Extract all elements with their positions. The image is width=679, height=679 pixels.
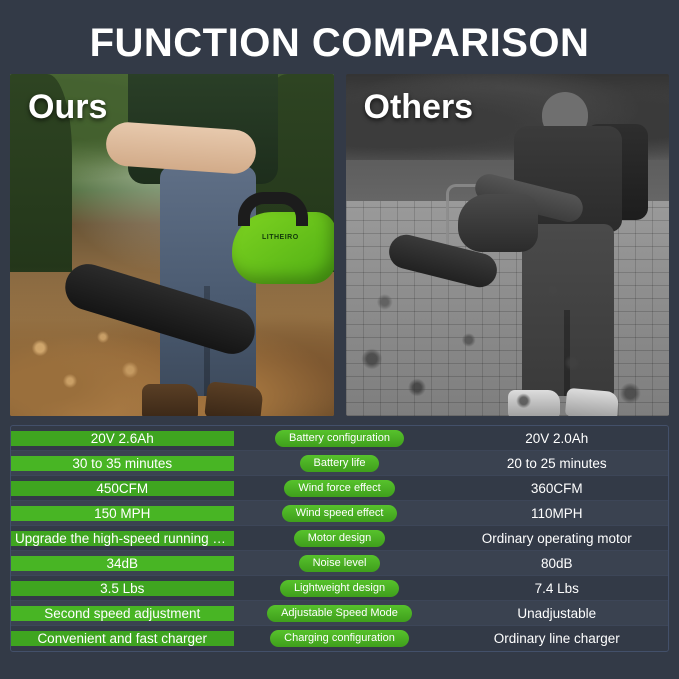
table-row: Convenient and fast charger Charging con… xyxy=(11,626,668,651)
cell-others: 20V 2.0Ah xyxy=(446,431,669,446)
cell-feature: Wind force effect xyxy=(234,480,446,497)
panel-label-ours: Ours xyxy=(28,88,107,127)
page-title: FUNCTION COMPARISON xyxy=(0,0,679,74)
cell-others: 110MPH xyxy=(446,506,669,521)
comparison-table: 20V 2.6Ah Battery configuration 20V 2.0A… xyxy=(10,425,669,652)
cell-ours: 450CFM xyxy=(11,481,234,496)
feature-pill: Charging configuration xyxy=(270,630,409,647)
cell-feature: Battery configuration xyxy=(234,430,446,447)
image-panels: LITHEIRO Ours xyxy=(0,74,679,416)
boot-right xyxy=(204,381,263,416)
cell-others: Ordinary operating motor xyxy=(446,531,669,546)
cell-ours: 34dB xyxy=(11,556,234,571)
feature-pill: Battery configuration xyxy=(275,430,404,447)
cell-others: 80dB xyxy=(446,556,669,571)
cell-feature: Wind speed effect xyxy=(234,505,446,522)
cell-others: 360CFM xyxy=(446,481,669,496)
cell-ours: 3.5 Lbs xyxy=(11,581,234,596)
cell-others: Unadjustable xyxy=(446,606,669,621)
comparison-infographic: FUNCTION COMPARISON LITHEIRO xyxy=(0,0,679,679)
person-legs xyxy=(160,166,256,396)
cell-ours: 30 to 35 minutes xyxy=(11,456,234,471)
cell-others: Ordinary line charger xyxy=(446,631,669,646)
panel-ours: LITHEIRO Ours xyxy=(10,74,334,416)
blower-handle xyxy=(238,192,308,226)
table-row: Second speed adjustment Adjustable Speed… xyxy=(11,601,668,626)
cell-feature: Charging configuration xyxy=(234,630,446,647)
cell-others: 7.4 Lbs xyxy=(446,581,669,596)
feature-pill: Noise level xyxy=(299,555,381,572)
cell-feature: Motor design xyxy=(234,530,446,547)
table-row: 20V 2.6Ah Battery configuration 20V 2.0A… xyxy=(11,426,668,451)
feature-pill: Battery life xyxy=(300,455,380,472)
cell-feature: Noise level xyxy=(234,555,446,572)
cell-ours: Second speed adjustment xyxy=(11,606,234,621)
panel-label-others: Others xyxy=(364,88,474,127)
cell-ours: 20V 2.6Ah xyxy=(11,431,234,446)
table-row: 150 MPH Wind speed effect 110MPH xyxy=(11,501,668,526)
panel-others: Others xyxy=(346,74,670,416)
cell-ours: Convenient and fast charger xyxy=(11,631,234,646)
blown-debris xyxy=(10,304,160,414)
cell-others: 20 to 25 minutes xyxy=(446,456,669,471)
table-row: 34dB Noise level 80dB xyxy=(11,551,668,576)
feature-pill: Motor design xyxy=(294,530,386,547)
brand-label: LITHEIRO xyxy=(262,234,299,241)
cell-feature: Lightweight design xyxy=(234,580,446,597)
feature-pill: Lightweight design xyxy=(280,580,399,597)
table-row: 450CFM Wind force effect 360CFM xyxy=(11,476,668,501)
table-row: 30 to 35 minutes Battery life 20 to 25 m… xyxy=(11,451,668,476)
scattered-leaves xyxy=(346,226,670,416)
cell-ours: Upgrade the high-speed running motor xyxy=(11,531,234,546)
feature-pill: Wind speed effect xyxy=(282,505,398,522)
cell-feature: Adjustable Speed Mode xyxy=(234,605,446,622)
feature-pill: Wind force effect xyxy=(284,480,394,497)
cell-feature: Battery life xyxy=(234,455,446,472)
table-row: 3.5 Lbs Lightweight design 7.4 Lbs xyxy=(11,576,668,601)
feature-pill: Adjustable Speed Mode xyxy=(267,605,412,622)
cell-ours: 150 MPH xyxy=(11,506,234,521)
table-row: Upgrade the high-speed running motor Mot… xyxy=(11,526,668,551)
